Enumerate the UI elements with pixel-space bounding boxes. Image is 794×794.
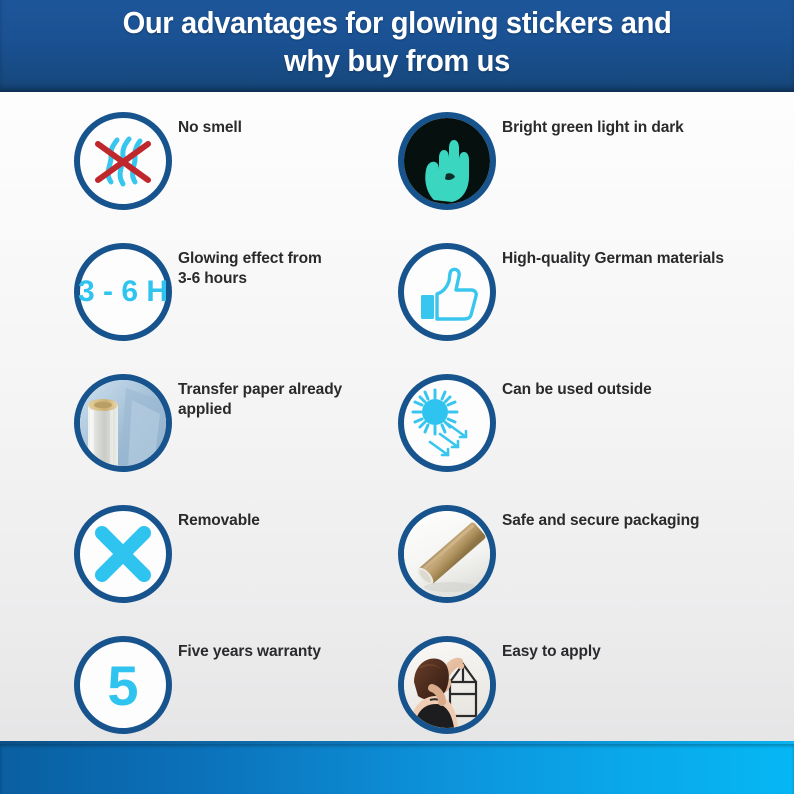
thumbs-up-icon — [398, 243, 496, 341]
cross-x-icon — [74, 505, 172, 603]
feature-transfer-paper: Transfer paper already applied — [74, 374, 404, 474]
feature-glowing-duration: 3 - 6 H Glowing effect from 3-6 hours — [74, 243, 404, 343]
feature-outdoor-use: Can be used outside — [398, 374, 728, 474]
woman-applying-sticker-image — [404, 642, 490, 728]
feature-label: Transfer paper already applied — [178, 380, 404, 420]
sun-rays-icon — [398, 374, 496, 472]
feature-easy-to-apply: Easy to apply — [398, 636, 728, 736]
feature-label: Bright green light in dark — [502, 118, 728, 138]
feature-removable: Removable — [74, 505, 404, 605]
glowing-handprint-icon — [398, 112, 496, 210]
feature-german-materials: High-quality German materials — [398, 243, 728, 343]
number-five-icon — [74, 636, 172, 734]
transfer-paper-roll-photo — [74, 374, 172, 472]
feature-grid: No smell — [0, 92, 794, 744]
feature-label: No smell — [178, 118, 404, 138]
advantages-infographic: Our advantages for glowing stickers and … — [0, 0, 794, 794]
footer-bar — [0, 744, 794, 794]
feature-bright-green-light: Bright green light in dark — [398, 112, 728, 212]
feature-no-smell: No smell — [74, 112, 404, 212]
mailing-tube-image — [404, 511, 490, 597]
feature-label: Safe and secure packaging — [502, 511, 728, 531]
page-title: Our advantages for glowing stickers and … — [24, 4, 770, 80]
feature-label: High-quality German materials — [502, 249, 728, 269]
woman-applying-sticker-photo — [398, 636, 496, 734]
feature-warranty: 5 Five years warranty — [74, 636, 404, 736]
feature-label: Easy to apply — [502, 642, 728, 662]
feature-label: Can be used outside — [502, 380, 728, 400]
transfer-paper-roll-image — [80, 380, 166, 466]
cross-x-glyph — [80, 511, 166, 597]
feature-label: Five years warranty — [178, 642, 404, 662]
feature-label: Glowing effect from 3-6 hours — [178, 249, 404, 289]
glowing-handprint-glyph — [404, 118, 490, 204]
feature-label: Removable — [178, 511, 404, 531]
mailing-tube-photo — [398, 505, 496, 603]
thumbs-up-glyph — [404, 249, 490, 335]
no-smell-icon — [74, 112, 172, 210]
header-banner: Our advantages for glowing stickers and … — [0, 0, 794, 92]
feature-secure-packaging: Safe and secure packaging — [398, 505, 728, 605]
sun-rays-glyph — [404, 380, 490, 466]
hours-badge-icon — [74, 243, 172, 341]
no-smell-glyph — [80, 118, 166, 204]
